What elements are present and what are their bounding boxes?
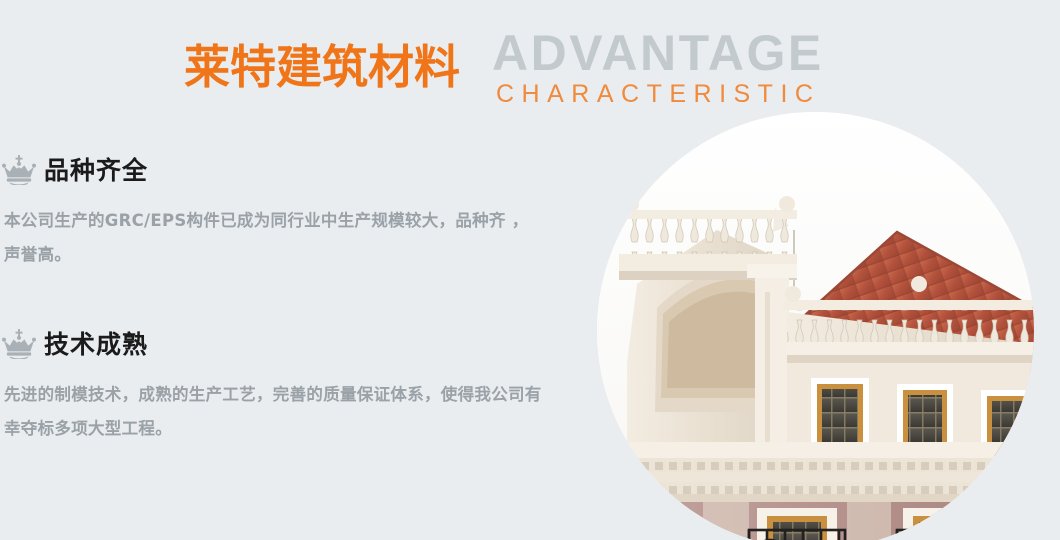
banner-header: ADVANTAGE CHARACTERISTIC 莱特建筑材料 bbox=[0, 0, 1060, 120]
feature-item: 技术成熟 先进的制模技术，成熟的生产工艺，完善的质量保证体系，使得我公司有幸夺标… bbox=[0, 324, 580, 446]
feature-body: 先进的制模技术，成熟的生产工艺，完善的质量保证体系，使得我公司有幸夺标多项大型工… bbox=[0, 378, 544, 446]
feature-list: 品种齐全 本公司生产的GRC/EPS构件已成为同行业中生产规模较大，品种齐 ，声… bbox=[0, 150, 580, 498]
building-photo-illustration bbox=[597, 112, 1034, 540]
page-title: 莱特建筑材料 bbox=[184, 42, 460, 93]
feature-title: 品种齐全 bbox=[44, 158, 148, 183]
building-photo-circle bbox=[597, 112, 1034, 540]
english-subheading: CHARACTERISTIC bbox=[496, 82, 820, 107]
feature-title: 技术成熟 bbox=[44, 332, 148, 357]
feature-body: 本公司生产的GRC/EPS构件已成为同行业中生产规模较大，品种齐 ，声誉高。 bbox=[0, 204, 544, 272]
feature-item: 品种齐全 本公司生产的GRC/EPS构件已成为同行业中生产规模较大，品种齐 ，声… bbox=[0, 150, 580, 272]
feature-heading: 技术成熟 bbox=[0, 324, 580, 364]
feature-heading: 品种齐全 bbox=[0, 150, 580, 190]
crown-icon bbox=[2, 329, 36, 359]
english-heading: ADVANTAGE bbox=[492, 28, 824, 78]
crown-icon bbox=[2, 155, 36, 185]
advantage-banner: ADVANTAGE CHARACTERISTIC 莱特建筑材料 bbox=[0, 0, 1060, 540]
